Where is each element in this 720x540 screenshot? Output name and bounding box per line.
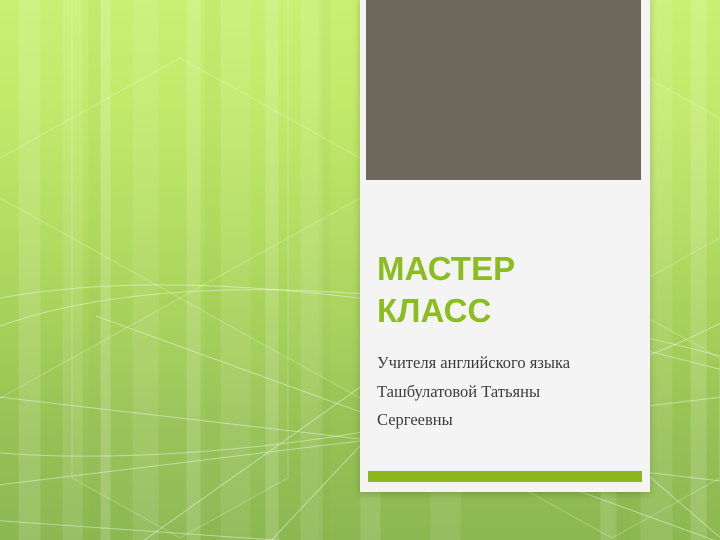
- accent-bar: [368, 471, 642, 482]
- slide-subtitle: Учителя английского языка Ташбулатовой Т…: [377, 350, 635, 431]
- picture-placeholder[interactable]: [366, 0, 641, 180]
- slide-content-card: МАСТЕР КЛАСС Учителя английского языка Т…: [360, 0, 650, 492]
- presentation-slide: МАСТЕР КЛАСС Учителя английского языка Т…: [0, 0, 720, 540]
- title-line-1: МАСТЕР: [377, 250, 515, 287]
- subtitle-line-2: Ташбулатовой Татьяны: [377, 379, 635, 404]
- subtitle-line-1: Учителя английского языка: [377, 350, 635, 375]
- title-line-2: КЛАСС: [377, 292, 491, 329]
- page-title: МАСТЕР КЛАСС: [377, 248, 635, 332]
- slide-text-block: МАСТЕР КЛАСС Учителя английского языка Т…: [377, 248, 635, 435]
- subtitle-line-3: Сергеевны: [377, 407, 635, 432]
